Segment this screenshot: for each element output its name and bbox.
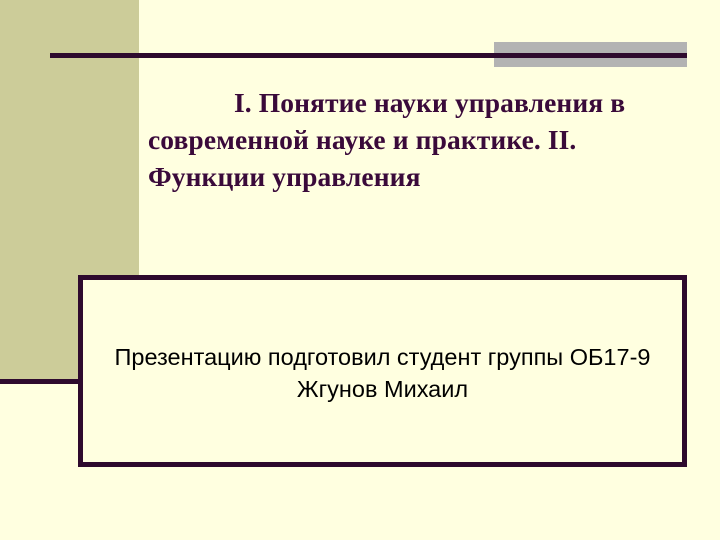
subtitle-box: Презентацию подготовил студент группы ОБ… <box>78 275 687 467</box>
presentation-slide: I. Понятие науки управления в современно… <box>0 0 720 540</box>
slide-title: I. Понятие науки управления в современно… <box>148 84 694 195</box>
title-divider-rule <box>50 53 687 58</box>
subtitle-text: Презентацию подготовил студент группы ОБ… <box>83 341 682 405</box>
